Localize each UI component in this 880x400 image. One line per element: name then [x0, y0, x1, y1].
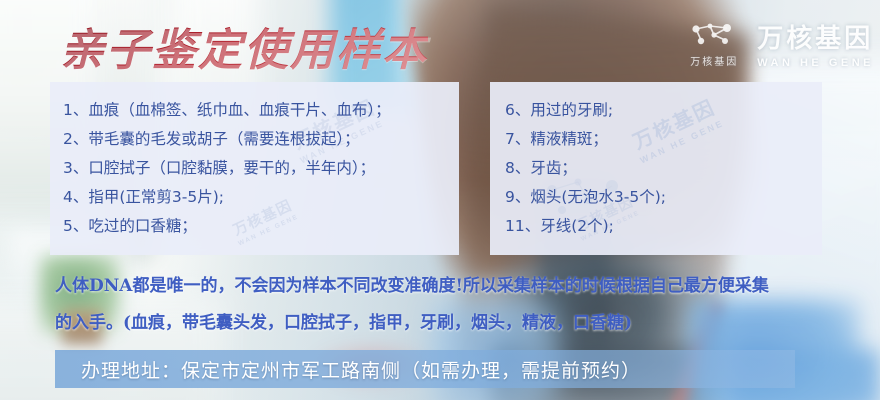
list-item: 7、精液精斑；	[505, 125, 666, 154]
page-title: 亲子鉴定使用样本	[60, 14, 428, 78]
logo-wordmark: 万核基因 WAN HE GENE	[757, 18, 874, 69]
list-item: 4、指甲(正常剪3-5片);	[63, 183, 391, 212]
list-item: 2、带毛囊的毛发或胡子（需要连根拔起）；	[63, 125, 391, 154]
molecule-network-icon	[687, 20, 741, 50]
list-item: 3、口腔拭子（口腔黏膜，要干的，半年内）；	[63, 154, 391, 183]
sample-list-left: 1、血痕（血棉签、纸巾血、血痕干片、血布）； 2、带毛囊的毛发或胡子（需要连根拔…	[63, 96, 391, 241]
paragraph-line: 的入手。(血痕，带毛囊头发，口腔拭子，指甲，牙刷，烟头，精液，口香糖)	[55, 305, 845, 342]
list-item: 6、用过的牙刷;	[505, 96, 666, 125]
description-paragraph: 人体DNA都是唯一的，不会因为样本不同改变准确度!所以采集样本的时候根据自己最方…	[55, 268, 845, 342]
address-text: 办理地址：保定市定州市军工路南侧（如需办理，需提前预约）	[81, 356, 641, 383]
list-item: 5、吃过的口香糖；	[63, 212, 391, 241]
list-item: 8、牙齿；	[505, 154, 666, 183]
brand-logo: 万核基因 万核基因 WAN HE GENE	[687, 18, 874, 69]
logo-mark-subtitle: 万核基因	[690, 53, 738, 68]
address-banner: 办理地址：保定市定州市军工路南侧（如需办理，需提前预约）	[55, 350, 795, 388]
poster-canvas: 亲子鉴定使用样本	[0, 0, 880, 400]
list-item: 9、烟头(无泡水3-5个);	[505, 183, 666, 212]
list-item: 1、血痕（血棉签、纸巾血、血痕干片、血布）；	[63, 96, 391, 125]
logo-mark: 万核基因	[687, 20, 741, 68]
logo-name-en: WAN HE GENE	[757, 57, 874, 69]
sample-list-right: 6、用过的牙刷; 7、精液精斑； 8、牙齿； 9、烟头(无泡水3-5个); 11…	[505, 96, 666, 241]
logo-name-cn: 万核基因	[757, 18, 873, 55]
paragraph-line: 人体DNA都是唯一的，不会因为样本不同改变准确度!所以采集样本的时候根据自己最方…	[55, 268, 845, 305]
list-item: 11、牙线(2个);	[505, 212, 666, 241]
